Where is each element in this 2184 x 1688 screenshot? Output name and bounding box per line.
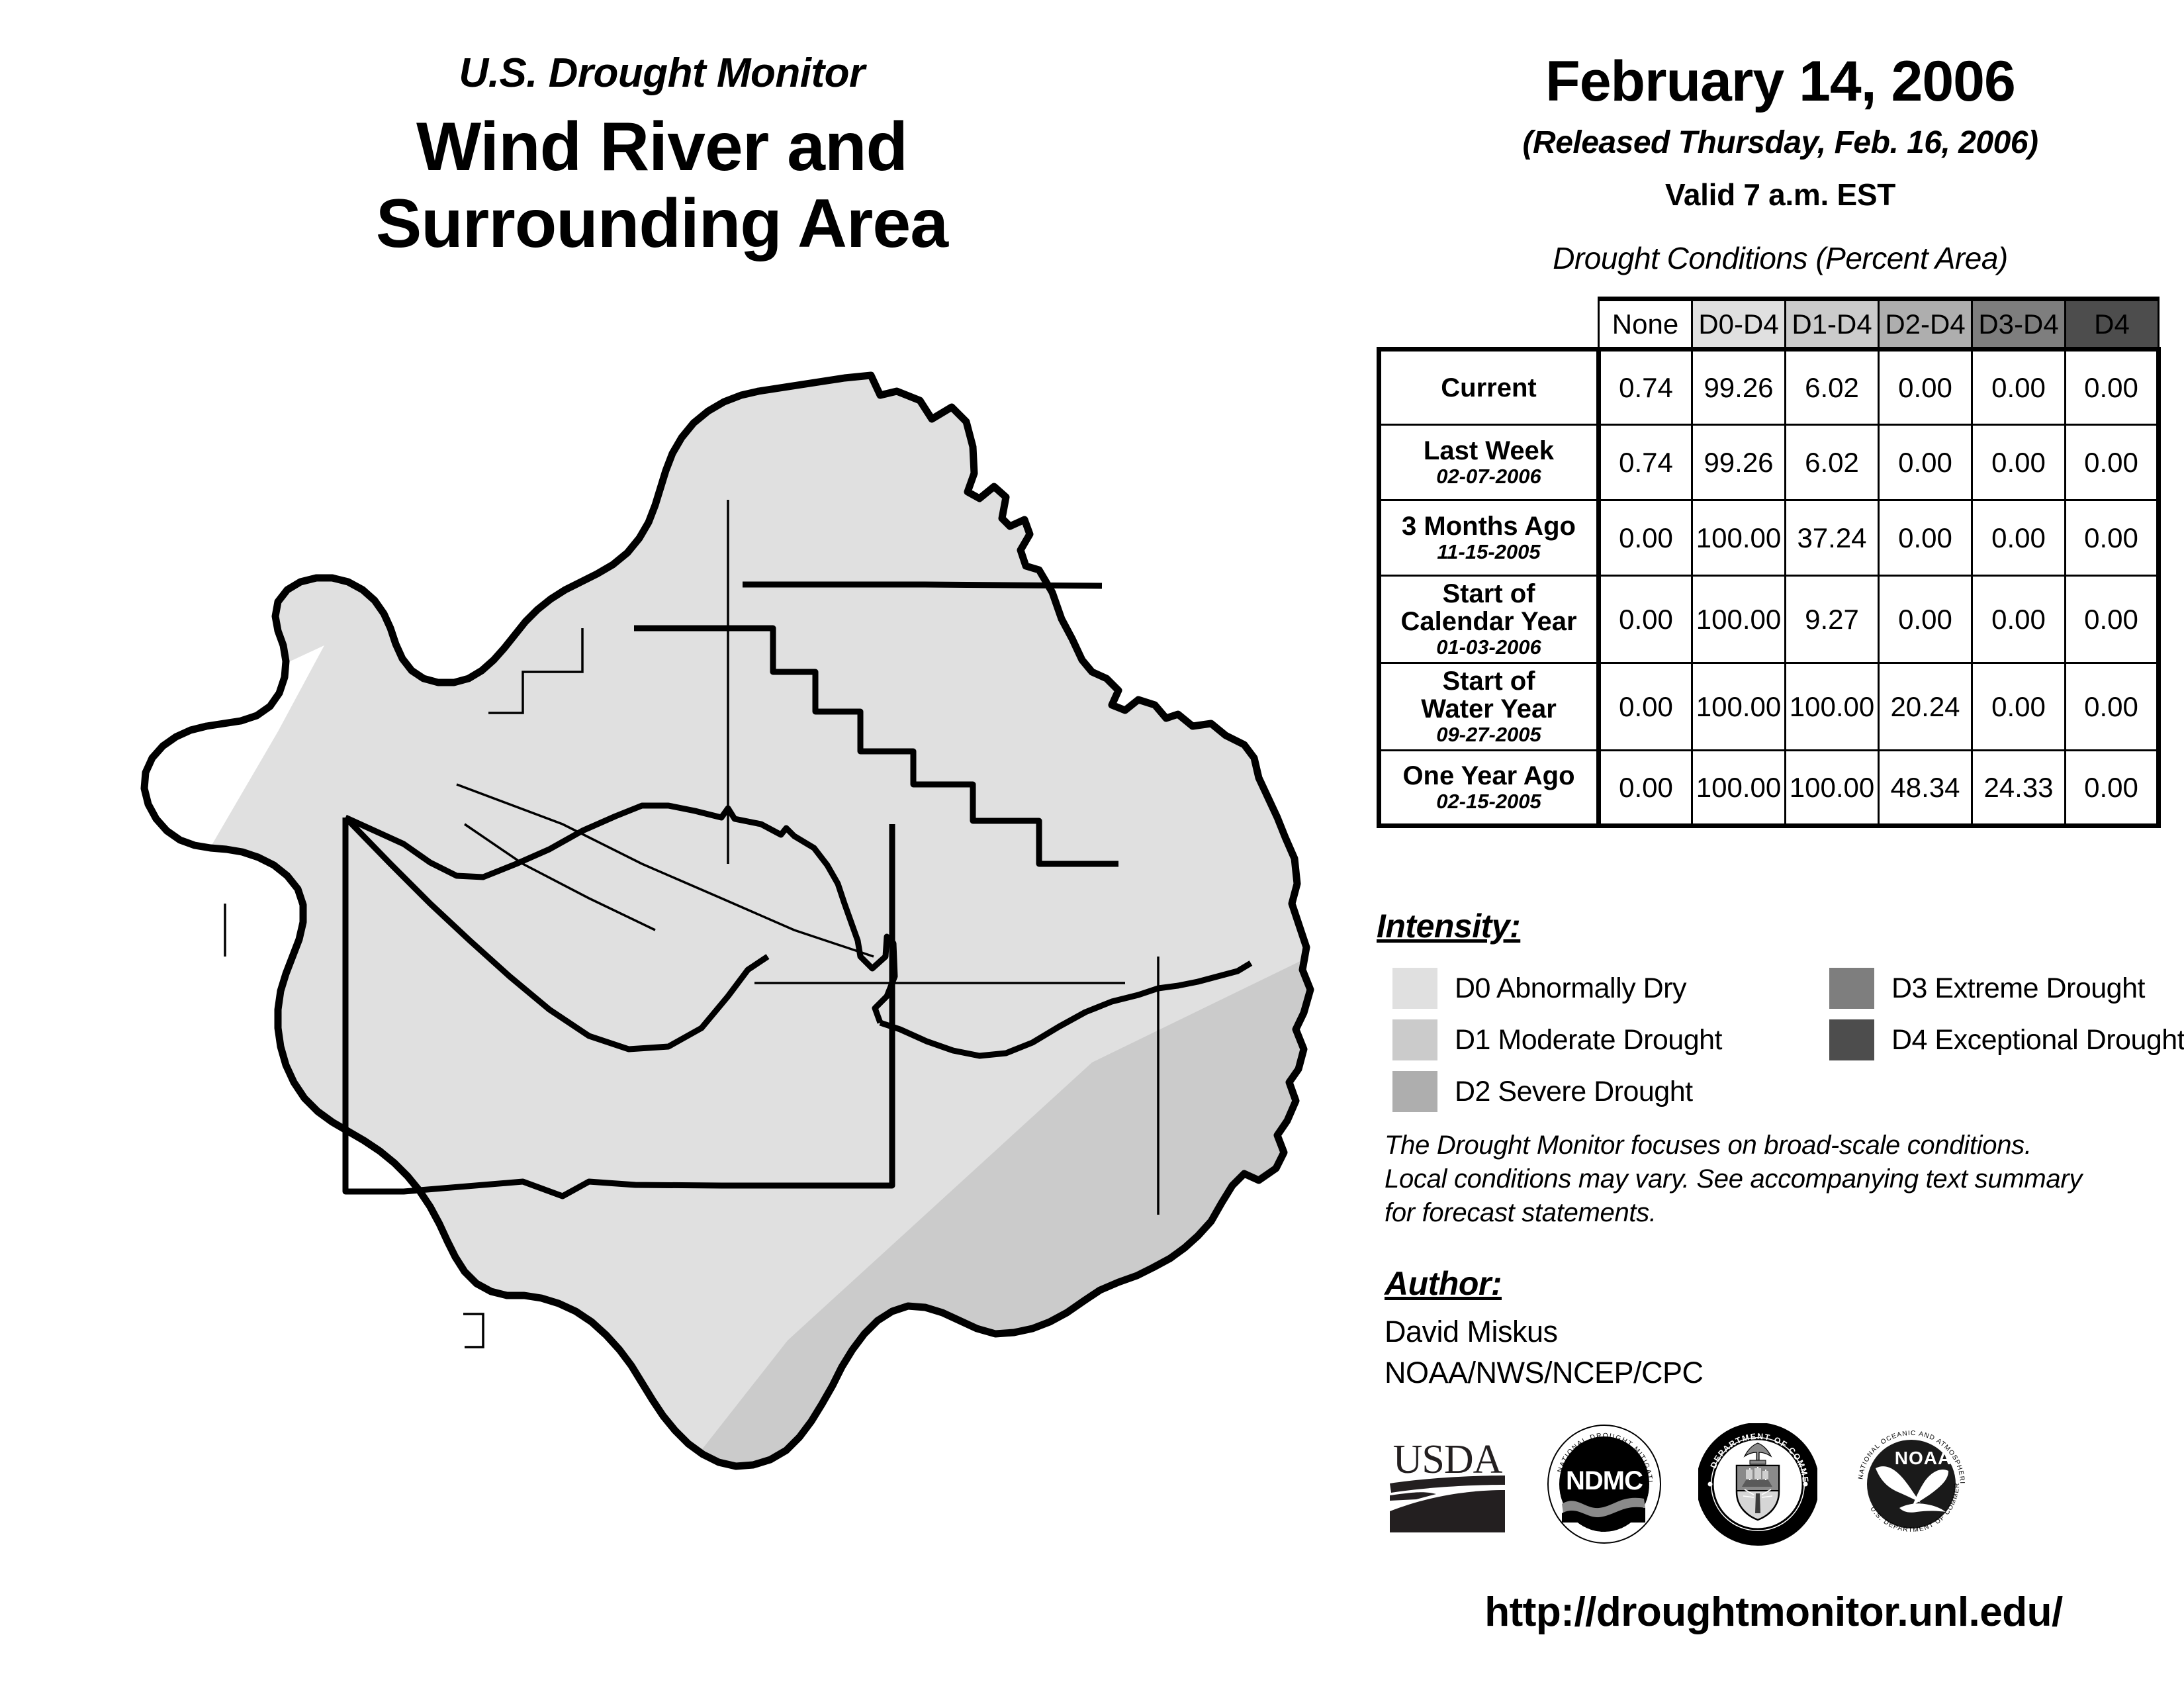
table-cell: 48.34 [1879, 751, 1972, 826]
table-cell: 0.00 [2066, 663, 2159, 751]
valid-time: Valid 7 a.m. EST [1377, 177, 2184, 212]
disclaimer-line: for forecast statements. [1385, 1196, 2165, 1230]
author-title: Author: [1385, 1264, 1502, 1303]
table-cell: 100.00 [1786, 663, 1879, 751]
intensity-legend: Intensity: D0 Abnormally DryD3 Extreme D… [1377, 907, 2171, 1117]
column-header-d2-d4: D2-D4 [1879, 299, 1972, 350]
table-cell: 0.00 [2066, 350, 2159, 425]
row-date: 02-15-2005 [1383, 791, 1595, 813]
legend-label: D3 Extreme Drought [1891, 972, 2145, 1005]
table-cell: 0.00 [1972, 500, 2066, 576]
row-label-text: Last Week [1383, 437, 1595, 465]
table-cell: 100.00 [1692, 576, 1786, 663]
table-cell: 0.00 [1879, 500, 1972, 576]
svg-text:NOAA: NOAA [1895, 1448, 1952, 1468]
legend-title: Intensity: [1377, 907, 1520, 945]
row-label-text: One Year Ago [1383, 762, 1595, 790]
table-caption: Drought Conditions (Percent Area) [1377, 240, 2184, 276]
row-label: One Year Ago02-15-2005 [1379, 751, 1599, 826]
agency-logos: USDA NATIONAL DROUGHT MITIGATION CENTER [1377, 1423, 2171, 1549]
table-cell: 9.27 [1786, 576, 1879, 663]
table-cell: 0.00 [1879, 576, 1972, 663]
table-cell: 0.00 [1599, 500, 1692, 576]
legend-label: D4 Exceptional Drought [1891, 1024, 2184, 1056]
row-label-text: Start of [1383, 667, 1595, 695]
region-title-line2: Surrounding Area [0, 185, 1324, 262]
row-date: 09-27-2005 [1383, 724, 1595, 746]
website-url[interactable]: http://droughtmonitor.unl.edu/ [1377, 1589, 2171, 1636]
legend-item-d1: D1 Moderate Drought [1377, 1014, 1813, 1066]
release-date: (Released Thursday, Feb. 16, 2006) [1377, 124, 2184, 161]
table-cell: 0.00 [1879, 425, 1972, 500]
disclaimer-line: Local conditions may vary. See accompany… [1385, 1162, 2165, 1196]
program-title: U.S. Drought Monitor [0, 53, 1324, 94]
table-cell: 100.00 [1692, 751, 1786, 826]
ndmc-logo: NATIONAL DROUGHT MITIGATION CENTER AT TH… [1545, 1423, 1664, 1549]
legend-label: D1 Moderate Drought [1455, 1024, 1722, 1056]
drought-map[interactable] [60, 361, 1337, 1539]
author-block: Author: David Miskus NOAA/NWS/NCEP/CPC [1385, 1264, 2165, 1390]
table-cell: 99.26 [1692, 425, 1786, 500]
svg-text:NDMC: NDMC [1566, 1466, 1643, 1495]
legend-label: D0 Abnormally Dry [1455, 972, 1686, 1005]
table-row: Start ofCalendar Year01-03-20060.00100.0… [1379, 576, 2159, 663]
table-row: Current0.7499.266.020.000.000.00 [1379, 350, 2159, 425]
author-org: NOAA/NWS/NCEP/CPC [1385, 1356, 2165, 1390]
row-label: Start ofCalendar Year01-03-2006 [1379, 576, 1599, 663]
table-cell: 0.00 [1972, 576, 2066, 663]
table-cell: 20.24 [1879, 663, 1972, 751]
table-cell: 0.00 [1599, 751, 1692, 826]
table-cell: 0.00 [1972, 350, 2066, 425]
author-name: David Miskus [1385, 1315, 2165, 1349]
table-cell: 37.24 [1786, 500, 1879, 576]
table-cell: 0.00 [2066, 425, 2159, 500]
legend-swatch-d3 [1829, 968, 1874, 1009]
row-label: Start ofWater Year09-27-2005 [1379, 663, 1599, 751]
table-cell: 0.00 [2066, 751, 2159, 826]
drought-conditions-table: NoneD0-D4D1-D4D2-D4D3-D4D4Current0.7499.… [1377, 297, 2158, 828]
column-header-none: None [1599, 299, 1692, 350]
column-header-d4: D4 [2066, 299, 2159, 350]
table-cell: 100.00 [1786, 751, 1879, 826]
valid-date: February 14, 2006 [1377, 53, 2184, 110]
legend-swatch-d1 [1392, 1019, 1437, 1060]
usda-logo: USDA [1385, 1432, 1510, 1541]
table-cell: 6.02 [1786, 350, 1879, 425]
table-row: Last Week02-07-20060.7499.266.020.000.00… [1379, 425, 2159, 500]
table-cell: 0.00 [2066, 576, 2159, 663]
row-label: 3 Months Ago11-15-2005 [1379, 500, 1599, 576]
legend-item-d3: D3 Extreme Drought [1813, 962, 2171, 1014]
column-header-d0-d4: D0-D4 [1692, 299, 1786, 350]
legend-swatch-d2 [1392, 1071, 1437, 1112]
map-svg[interactable] [60, 361, 1337, 1539]
row-label-text: Calendar Year [1383, 608, 1595, 635]
table-cell: 24.33 [1972, 751, 2066, 826]
right-panel: February 14, 2006 (Released Thursday, Fe… [1377, 0, 2184, 1688]
table-cell: 0.00 [1879, 350, 1972, 425]
table-cell: 0.74 [1599, 350, 1692, 425]
table-cell: 0.00 [1599, 663, 1692, 751]
region-title-line1: Wind River and [0, 109, 1324, 185]
column-header-d3-d4: D3-D4 [1972, 299, 2066, 350]
title-block: U.S. Drought Monitor Wind River and Surr… [0, 53, 1324, 263]
legend-item-d4: D4 Exceptional Drought [1813, 1014, 2171, 1066]
svg-text:USDA: USDA [1393, 1437, 1503, 1482]
table-cell: 0.00 [1972, 425, 2066, 500]
legend-label: D2 Severe Drought [1455, 1076, 1693, 1108]
row-label-text: 3 Months Ago [1383, 512, 1595, 540]
row-date: 01-03-2006 [1383, 637, 1595, 659]
row-label: Last Week02-07-2006 [1379, 425, 1599, 500]
noaa-logo: NATIONAL OCEANIC AND ATMOSPHERIC ADMINIS… [1852, 1423, 1971, 1549]
disclaimer-text: The Drought Monitor focuses on broad-sca… [1385, 1129, 2165, 1231]
table-cell: 6.02 [1786, 425, 1879, 500]
table-header-corner [1379, 299, 1599, 350]
row-label-text: Current [1383, 374, 1595, 402]
table-row: 3 Months Ago11-15-20050.00100.0037.240.0… [1379, 500, 2159, 576]
legend-item-d2: D2 Severe Drought [1377, 1066, 1813, 1117]
legend-swatch-d4 [1829, 1019, 1874, 1060]
table-cell: 0.74 [1599, 425, 1692, 500]
row-label-text: Water Year [1383, 695, 1595, 723]
table-header-row: NoneD0-D4D1-D4D2-D4D3-D4D4 [1379, 299, 2159, 350]
disclaimer-line: The Drought Monitor focuses on broad-sca… [1385, 1129, 2165, 1162]
row-date: 11-15-2005 [1383, 541, 1595, 563]
table-cell: 0.00 [1972, 663, 2066, 751]
table-row: One Year Ago02-15-20050.00100.00100.0048… [1379, 751, 2159, 826]
table-row: Start ofWater Year09-27-20050.00100.0010… [1379, 663, 2159, 751]
row-date: 02-07-2006 [1383, 466, 1595, 488]
table-cell: 100.00 [1692, 500, 1786, 576]
table-cell: 0.00 [1599, 576, 1692, 663]
legend-swatch-d0 [1392, 968, 1437, 1009]
legend-item-d0: D0 Abnormally Dry [1377, 962, 1813, 1014]
drought-monitor-page: U.S. Drought Monitor Wind River and Surr… [0, 0, 2184, 1688]
column-header-d1-d4: D1-D4 [1786, 299, 1879, 350]
table-cell: 0.00 [2066, 500, 2159, 576]
region-title: Wind River and Surrounding Area [0, 109, 1324, 263]
row-label-text: Start of [1383, 580, 1595, 608]
table-cell: 99.26 [1692, 350, 1786, 425]
doc-seal-logo: DEPARTMENT OF COMMERCE UNITED STATES OF … [1698, 1423, 1817, 1549]
table-cell: 100.00 [1692, 663, 1786, 751]
row-label: Current [1379, 350, 1599, 425]
